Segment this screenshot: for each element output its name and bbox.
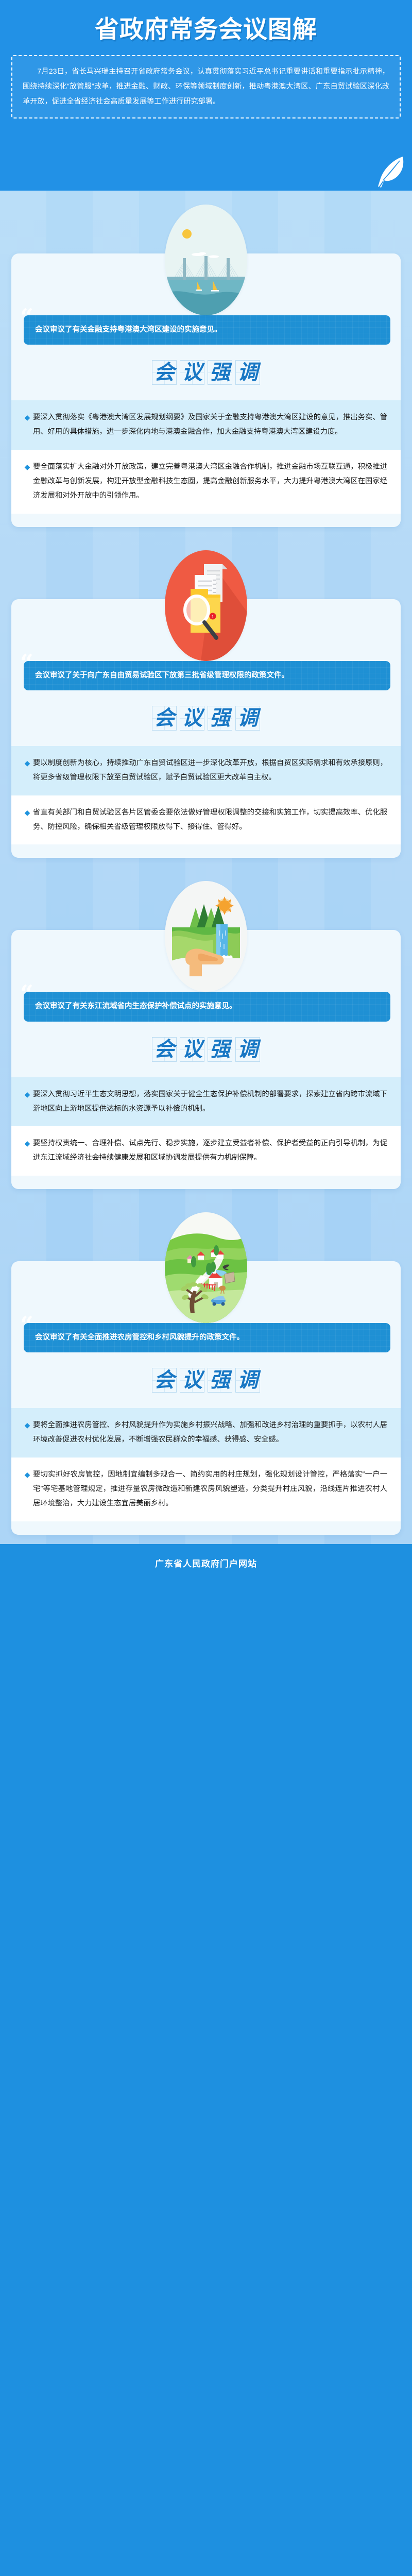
bullet-list: ◆ 要以制度创新为核心，持续推动广东自贸试验区进一步深化改革开放，根据自贸区实际… [11, 746, 401, 845]
emphasis-char: 强 [208, 706, 232, 731]
bullet-marker-icon: ◆ [22, 1468, 33, 1511]
document-magnifier-illustration: 1 [165, 550, 247, 661]
section-3: “ 会议审议了有关东江流域省内生态保护补偿试点的实施意见。 会 议 强 调 ◆ … [0, 867, 412, 1198]
emphasis-char: 调 [235, 706, 260, 731]
section-quote-text: 会议审议了有关金融支持粤港澳大湾区建设的实施意见。 [35, 326, 222, 334]
emphasis-char: 调 [235, 1037, 260, 1062]
intro-text: 7月23日，省长马兴瑞主持召开省政府常务会议，认真贯彻落实习近平总书记重要讲话和… [23, 64, 389, 109]
page-title: 省政府常务会议图解 [0, 7, 412, 45]
bullet-item: ◆ 要以制度创新为核心，持续推动广东自贸试验区进一步深化改革开放，根据自贸区实际… [11, 746, 401, 795]
illustration-holder [0, 873, 412, 992]
bullet-item: ◆ 省直有关部门和自贸试验区各片区管委会要依法做好管理权限调整的交接和实施工作，… [11, 795, 401, 845]
emphasis-char: 会 [152, 360, 177, 385]
countryside-village-illustration [165, 1212, 247, 1323]
bullet-item: ◆ 要全面落实扩大金融对外开放政策，建立完善粤港澳大湾区金融合作机制，推进金融市… [11, 450, 401, 514]
bullet-item: ◆ 要将全面推进农房管控、乡村风貌提升作为实施乡村振兴战略、加强和改进乡村治理的… [11, 1408, 401, 1458]
emphasis-heading: 会 议 强 调 [11, 1022, 401, 1077]
bullet-marker-icon: ◆ [22, 411, 33, 439]
bullet-item: ◆ 要深入贯彻习近平生态文明思想，落实国家关于健全生态保护补偿机制的部署要求，探… [11, 1077, 401, 1127]
section-1: “ 会议审议了有关金融支持粤港澳大湾区建设的实施意见。 会 议 强 调 ◆ 要深… [0, 191, 412, 536]
bullet-item: ◆ 要坚持权责统一、合理补偿、试点先行、稳步实施，逐步建立受益者补偿、保护者受益… [11, 1126, 401, 1176]
emphasis-char: 会 [152, 1037, 177, 1062]
card-footer-space [11, 1176, 401, 1189]
emphasis-char: 议 [180, 1037, 204, 1062]
bullet-text: 要以制度创新为核心，持续推动广东自贸试验区进一步深化改革开放，根据自贸区实际需求… [33, 756, 387, 785]
emphasis-char: 强 [208, 1368, 232, 1393]
bullet-text: 要将全面推进农房管控、乡村风貌提升作为实施乡村振兴战略、加强和改进乡村治理的重要… [33, 1418, 387, 1447]
emphasis-char: 强 [208, 360, 232, 385]
card-footer-space [11, 844, 401, 858]
bullet-marker-icon: ◆ [22, 1137, 33, 1165]
bullet-marker-icon: ◆ [22, 756, 33, 785]
section-spacer [0, 527, 412, 536]
bullet-text: 要坚持权责统一、合理补偿、试点先行、稳步实施，逐步建立受益者补偿、保护者受益的正… [33, 1137, 387, 1165]
bullet-text: 要深入贯彻落实《粤港澳大湾区发展规划纲要》及国家关于金融支持粤港澳大湾区建设的意… [33, 411, 387, 439]
bullet-list: ◆ 要深入贯彻习近平生态文明思想，落实国家关于健全生态保护补偿机制的部署要求，探… [11, 1077, 401, 1176]
bullet-marker-icon: ◆ [22, 1418, 33, 1447]
bullet-list: ◆ 要深入贯彻落实《粤港澳大湾区发展规划纲要》及国家关于金融支持粤港澳大湾区建设… [11, 400, 401, 513]
emphasis-char: 议 [180, 706, 204, 731]
illustration-holder: 1 [0, 543, 412, 661]
section-quote-text: 会议审议了关于向广东自由贸易试验区下放第三批省级管理权限的政策文件。 [35, 671, 289, 680]
section-quote-text: 会议审议了有关全面推进农房管控和乡村风貌提升的政策文件。 [35, 1333, 244, 1342]
emphasis-heading: 会 议 强 调 [11, 345, 401, 400]
bullet-text: 要切实抓好农房管控，因地制宜编制多规合一、简约实用的村庄规划，强化规划设计管控，… [33, 1468, 387, 1511]
page-footer: 广东省人民政府门户网站 [0, 1544, 412, 1583]
bridge-sea-illustration [165, 205, 247, 315]
emphasis-char: 会 [152, 1368, 177, 1393]
bullet-marker-icon: ◆ [22, 806, 33, 835]
section-quote: “ 会议审议了有关金融支持粤港澳大湾区建设的实施意见。 [24, 315, 390, 345]
emphasis-char: 强 [208, 1037, 232, 1062]
section-spacer [0, 858, 412, 867]
svg-text:1: 1 [211, 614, 214, 619]
section-quote: “ 会议审议了有关全面推进农房管控和乡村风貌提升的政策文件。 [24, 1323, 390, 1352]
content-body: “ 会议审议了有关金融支持粤港澳大湾区建设的实施意见。 会 议 强 调 ◆ 要深… [0, 191, 412, 1544]
bullet-marker-icon: ◆ [22, 1088, 33, 1116]
section-spacer [0, 1189, 412, 1198]
emphasis-heading: 会 议 强 调 [11, 690, 401, 746]
bullet-marker-icon: ◆ [22, 460, 33, 503]
section-quote: “ 会议审议了关于向广东自由贸易试验区下放第三批省级管理权限的政策文件。 [24, 661, 390, 690]
section-quote: “ 会议审议了有关东江流域省内生态保护补偿试点的实施意见。 [24, 992, 390, 1021]
footer-text: 广东省人民政府门户网站 [155, 1559, 257, 1569]
section-quote-text: 会议审议了有关东江流域省内生态保护补偿试点的实施意见。 [35, 1002, 237, 1010]
illustration-holder [0, 1205, 412, 1323]
bullet-text: 省直有关部门和自贸试验区各片区管委会要依法做好管理权限调整的交接和实施工作，切实… [33, 806, 387, 835]
emphasis-char: 议 [180, 1368, 204, 1393]
bullet-item: ◆ 要切实抓好农房管控，因地制宜编制多规合一、简约实用的村庄规划，强化规划设计管… [11, 1458, 401, 1521]
bullet-text: 要深入贯彻习近平生态文明思想，落实国家关于健全生态保护补偿机制的部署要求，探索建… [33, 1088, 387, 1116]
card-footer-space [11, 514, 401, 527]
emphasis-char: 调 [235, 1368, 260, 1393]
page-header: 省政府常务会议图解 7月23日，省长马兴瑞主持召开省政府常务会议，认真贯彻落实习… [0, 0, 412, 191]
illustration-holder [0, 197, 412, 315]
bullet-text: 要全面落实扩大金融对外开放政策，建立完善粤港澳大湾区金融合作机制，推进金融市场互… [33, 460, 387, 503]
emphasis-char: 议 [180, 360, 204, 385]
section-4: “ 会议审议了有关全面推进农房管控和乡村风貌提升的政策文件。 会 议 强 调 ◆… [0, 1198, 412, 1544]
emphasis-char: 会 [152, 706, 177, 731]
feather-icon [376, 155, 407, 190]
hand-nature-illustration [165, 881, 247, 992]
emphasis-char: 调 [235, 360, 260, 385]
section-spacer [0, 1535, 412, 1544]
bullet-list: ◆ 要将全面推进农房管控、乡村风貌提升作为实施乡村振兴战略、加强和改进乡村治理的… [11, 1408, 401, 1521]
section-2: 1 “ 会议审议了关于向广东自由贸易试验区下放第三批省级管理权限的政策文件。 会… [0, 536, 412, 868]
card-footer-space [11, 1521, 401, 1535]
bullet-item: ◆ 要深入贯彻落实《粤港澳大湾区发展规划纲要》及国家关于金融支持粤港澳大湾区建设… [11, 400, 401, 450]
intro-panel: 7月23日，省长马兴瑞主持召开省政府常务会议，认真贯彻落实习近平总书记重要讲话和… [11, 55, 401, 118]
emphasis-heading: 会 议 强 调 [11, 1352, 401, 1408]
